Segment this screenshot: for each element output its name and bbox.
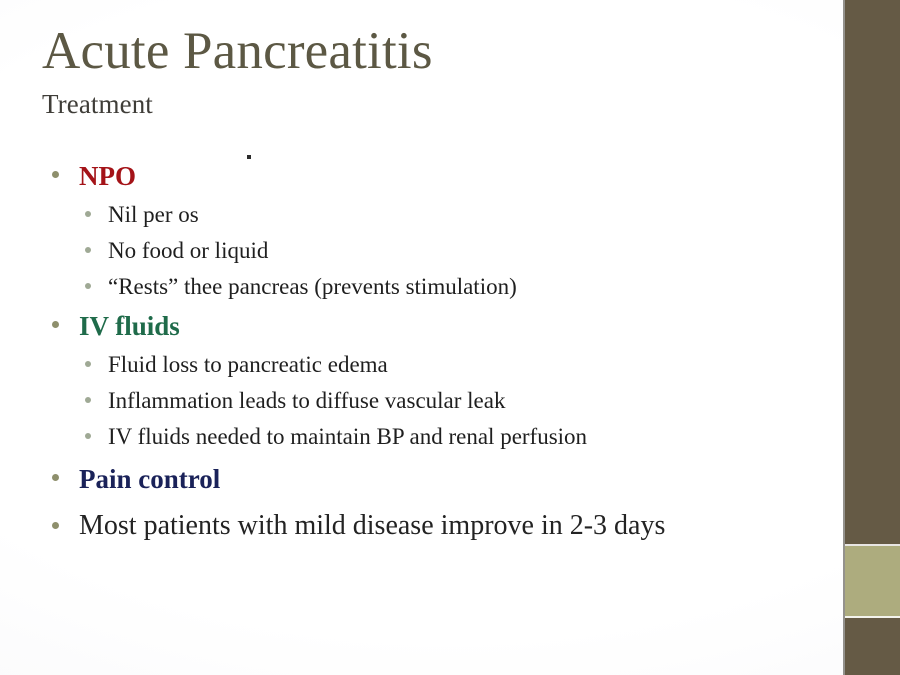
sidebar-band-light (845, 546, 900, 618)
list-item-label: NPO (79, 161, 136, 191)
list-item: NPO (46, 158, 826, 195)
bullet-dot-icon (52, 321, 59, 328)
list-item-label: Inflammation leads to diffuse vascular l… (108, 388, 505, 413)
list-item-label: IV fluids needed to maintain BP and rena… (108, 424, 587, 449)
bullet-list: NPO Nil per os No food or liquid “Rests”… (46, 158, 826, 546)
list-item: “Rests” thee pancreas (prevents stimulat… (46, 269, 826, 305)
bullet-dot-icon (85, 211, 91, 217)
sub-bullet-list: Fluid loss to pancreatic edema Inflammat… (46, 347, 826, 455)
list-item-label: Pain control (79, 464, 220, 494)
slide: Acute Pancreatitis Treatment NPO Nil per… (0, 0, 900, 675)
list-item-label: Nil per os (108, 202, 199, 227)
bullet-dot-icon (85, 247, 91, 253)
list-item: Pain control (46, 461, 826, 498)
page-title: Acute Pancreatitis (42, 24, 802, 80)
bullet-dot-icon (52, 474, 59, 481)
list-item: Nil per os (46, 197, 826, 233)
list-item: IV fluids needed to maintain BP and rena… (46, 419, 826, 455)
page-subtitle: Treatment (42, 88, 802, 120)
bullet-dot-icon (85, 433, 91, 439)
list-item-label: IV fluids (79, 311, 180, 341)
slide-header: Acute Pancreatitis Treatment (42, 24, 802, 120)
sidebar-band-dark-top (845, 0, 900, 546)
list-item-label: Fluid loss to pancreatic edema (108, 352, 388, 377)
list-item: IV fluids (46, 308, 826, 345)
list-item: Fluid loss to pancreatic edema (46, 347, 826, 383)
sidebar-decoration (843, 0, 900, 675)
list-item-label: No food or liquid (108, 238, 268, 263)
bullet-dot-icon (85, 283, 91, 289)
bullet-dot-icon (85, 361, 91, 367)
list-item: Inflammation leads to diffuse vascular l… (46, 383, 826, 419)
list-item-label: “Rests” thee pancreas (prevents stimulat… (108, 274, 517, 299)
bullet-dot-icon (52, 522, 59, 529)
bullet-dot-icon (85, 397, 91, 403)
sub-bullet-list: Nil per os No food or liquid “Rests” the… (46, 197, 826, 305)
list-item: No food or liquid (46, 233, 826, 269)
bullet-dot-icon (52, 171, 59, 178)
list-item-label: Most patients with mild disease improve … (79, 510, 665, 541)
list-item: Most patients with mild disease improve … (46, 507, 826, 544)
sidebar-band-dark-bottom (845, 618, 900, 675)
